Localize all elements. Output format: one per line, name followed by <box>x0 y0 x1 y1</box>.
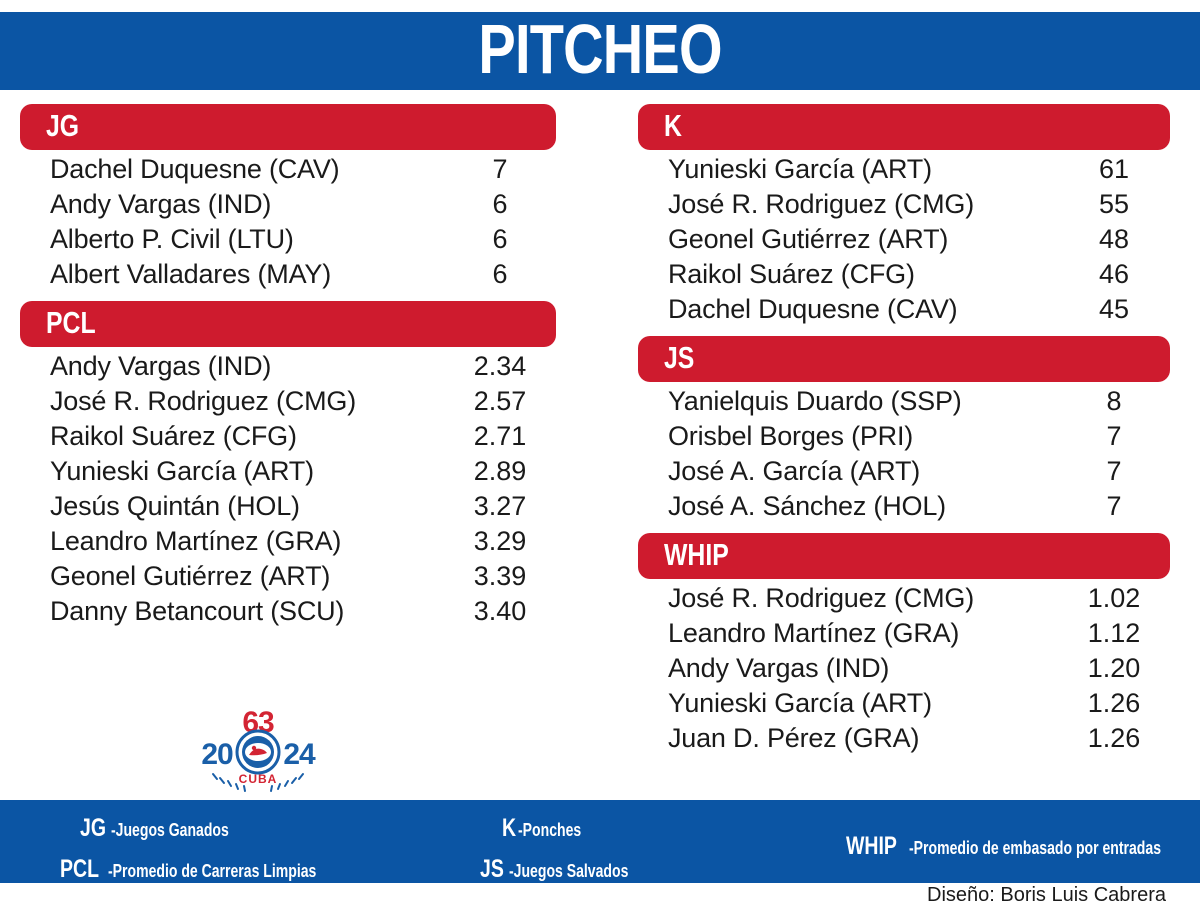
table-row: Dachel Duquesne (CAV) 7 <box>20 154 556 189</box>
player-name: José A. García (ART) <box>668 456 1058 487</box>
player-name: Geonel Gutiérrez (ART) <box>50 561 444 592</box>
stat-value: 45 <box>1058 294 1170 325</box>
stat-value: 7 <box>1058 421 1170 452</box>
table-row: Geonel Gutiérrez (ART) 48 <box>638 224 1170 259</box>
table-row: Yanielquis Duardo (SSP) 8 <box>638 386 1170 421</box>
stat-list-whip: José R. Rodriguez (CMG) 1.02 Leandro Mar… <box>638 583 1170 758</box>
legend-desc: -Ponches <box>518 820 581 841</box>
infographic-page: PITCHEO JG Dachel Duquesne (CAV) 7 Andy … <box>0 0 1200 908</box>
player-name: José A. Sánchez (HOL) <box>668 491 1058 522</box>
table-row: Andy Vargas (IND) 6 <box>20 189 556 224</box>
stat-value: 1.26 <box>1058 723 1170 754</box>
design-credit: Diseño: Boris Luis Cabrera <box>927 884 1166 907</box>
spacer <box>638 329 1170 336</box>
table-row: José R. Rodriguez (CMG) 2.57 <box>20 386 556 421</box>
stat-value: 8 <box>1058 386 1170 417</box>
stat-value: 7 <box>1058 456 1170 487</box>
stat-value: 3.39 <box>444 561 556 592</box>
stat-value: 1.20 <box>1058 653 1170 684</box>
section-pcl: PCL Andy Vargas (IND) 2.34 José R. Rodri… <box>20 301 556 631</box>
player-name: Jesús Quintán (HOL) <box>50 491 444 522</box>
stat-value: 6 <box>444 259 556 290</box>
serie-nacional-logo: 63 20 24 CUBA <box>193 702 323 794</box>
player-name: Danny Betancourt (SCU) <box>50 596 444 627</box>
table-row: Juan D. Pérez (GRA) 1.26 <box>638 723 1170 758</box>
legend-item-js: JS -Juegos Salvados <box>480 855 662 884</box>
legend-item-k: K -Ponches <box>480 814 662 843</box>
section-title-pcl: PCL <box>46 307 96 341</box>
stat-value: 3.29 <box>444 526 556 557</box>
table-row: José R. Rodriguez (CMG) 1.02 <box>638 583 1170 618</box>
table-row: Albert Valladares (MAY) 6 <box>20 259 556 294</box>
legend-abbr: WHIP <box>846 832 897 861</box>
player-name: Orisbel Borges (PRI) <box>668 421 1058 452</box>
player-name: Dachel Duquesne (CAV) <box>668 294 1058 325</box>
player-name: Yunieski García (ART) <box>668 154 1058 185</box>
stat-value: 1.12 <box>1058 618 1170 649</box>
player-name: Dachel Duquesne (CAV) <box>50 154 444 185</box>
section-title-js: JS <box>664 342 694 376</box>
section-title-k: K <box>664 110 682 144</box>
table-row: Danny Betancourt (SCU) 3.40 <box>20 596 556 631</box>
table-row: Leandro Martínez (GRA) 1.12 <box>638 618 1170 653</box>
legend-desc: -Juegos Salvados <box>509 861 628 882</box>
table-row: Jesús Quintán (HOL) 3.27 <box>20 491 556 526</box>
legend-group-left: JG -Juegos Ganados PCL -Promedio de Carr… <box>60 814 375 896</box>
section-jg: JG Dachel Duquesne (CAV) 7 Andy Vargas (… <box>20 104 556 294</box>
section-header-k: K <box>638 104 1170 150</box>
player-name: Raikol Suárez (CFG) <box>50 421 444 452</box>
stat-value: 1.26 <box>1058 688 1170 719</box>
stat-list-js: Yanielquis Duardo (SSP) 8 Orisbel Borges… <box>638 386 1170 526</box>
stat-list-k: Yunieski García (ART) 61 José R. Rodrigu… <box>638 154 1170 329</box>
stat-value: 3.40 <box>444 596 556 627</box>
player-name: Raikol Suárez (CFG) <box>668 259 1058 290</box>
table-row: Raikol Suárez (CFG) 2.71 <box>20 421 556 456</box>
legend-abbr: PCL <box>60 855 99 884</box>
table-row: Dachel Duquesne (CAV) 45 <box>638 294 1170 329</box>
stat-list-jg: Dachel Duquesne (CAV) 7 Andy Vargas (IND… <box>20 154 556 294</box>
player-name: Leandro Martínez (GRA) <box>668 618 1058 649</box>
stat-value: 48 <box>1058 224 1170 255</box>
table-row: José R. Rodriguez (CMG) 55 <box>638 189 1170 224</box>
footer-banner: JG -Juegos Ganados PCL -Promedio de Carr… <box>0 800 1200 883</box>
legend-abbr: JG <box>80 814 106 843</box>
player-name: Leandro Martínez (GRA) <box>50 526 444 557</box>
table-row: Yunieski García (ART) 2.89 <box>20 456 556 491</box>
table-row: Yunieski García (ART) 61 <box>638 154 1170 189</box>
stat-value: 2.57 <box>444 386 556 417</box>
stat-value: 6 <box>444 189 556 220</box>
svg-text:24: 24 <box>283 738 316 771</box>
header-banner: PITCHEO <box>0 12 1200 90</box>
right-column: K Yunieski García (ART) 61 José R. Rodri… <box>638 104 1170 758</box>
section-whip: WHIP José R. Rodriguez (CMG) 1.02 Leandr… <box>638 533 1170 758</box>
table-row: Andy Vargas (IND) 1.20 <box>638 653 1170 688</box>
legend-desc: -Promedio de embasado por entradas <box>909 838 1161 859</box>
legend-item-pcl: PCL -Promedio de Carreras Limpias <box>60 855 375 884</box>
section-title-whip: WHIP <box>664 539 729 573</box>
player-name: José R. Rodriguez (CMG) <box>668 583 1058 614</box>
section-k: K Yunieski García (ART) 61 José R. Rodri… <box>638 104 1170 329</box>
legend-desc: -Juegos Ganados <box>111 820 229 841</box>
section-header-jg: JG <box>20 104 556 150</box>
section-title-jg: JG <box>46 110 79 144</box>
table-row: Geonel Gutiérrez (ART) 3.39 <box>20 561 556 596</box>
legend-item-jg: JG -Juegos Ganados <box>60 814 375 843</box>
page-title: PITCHEO <box>478 14 721 88</box>
player-name: José R. Rodriguez (CMG) <box>50 386 444 417</box>
player-name: Andy Vargas (IND) <box>50 189 444 220</box>
stat-value: 7 <box>1058 491 1170 522</box>
player-name: Alberto P. Civil (LTU) <box>50 224 444 255</box>
table-row: José A. García (ART) 7 <box>638 456 1170 491</box>
spacer <box>638 526 1170 533</box>
legend-group-center: K -Ponches JS -Juegos Salvados <box>480 814 662 896</box>
stat-value: 2.89 <box>444 456 556 487</box>
player-name: Albert Valladares (MAY) <box>50 259 444 290</box>
table-row: Orisbel Borges (PRI) 7 <box>638 421 1170 456</box>
table-row: Yunieski García (ART) 1.26 <box>638 688 1170 723</box>
section-header-js: JS <box>638 336 1170 382</box>
player-name: Andy Vargas (IND) <box>668 653 1058 684</box>
stat-value: 1.02 <box>1058 583 1170 614</box>
svg-text:20: 20 <box>201 738 233 771</box>
section-js: JS Yanielquis Duardo (SSP) 8 Orisbel Bor… <box>638 336 1170 526</box>
stat-value: 46 <box>1058 259 1170 290</box>
stat-value: 2.71 <box>444 421 556 452</box>
table-row: Andy Vargas (IND) 2.34 <box>20 351 556 386</box>
player-name: Andy Vargas (IND) <box>50 351 444 382</box>
player-name: Yunieski García (ART) <box>668 688 1058 719</box>
legend-abbr: JS <box>480 855 504 884</box>
legend-group-right: WHIP -Promedio de embasado por entradas <box>846 832 1200 873</box>
player-name: José R. Rodriguez (CMG) <box>668 189 1058 220</box>
stat-value: 55 <box>1058 189 1170 220</box>
stat-value: 61 <box>1058 154 1170 185</box>
svg-text:CUBA: CUBA <box>239 772 278 786</box>
section-header-whip: WHIP <box>638 533 1170 579</box>
player-name: Juan D. Pérez (GRA) <box>668 723 1058 754</box>
stat-value: 2.34 <box>444 351 556 382</box>
left-column: JG Dachel Duquesne (CAV) 7 Andy Vargas (… <box>20 104 556 631</box>
logo-icon: 63 20 24 CUBA <box>193 702 323 794</box>
table-row: Alberto P. Civil (LTU) 6 <box>20 224 556 259</box>
legend-item-whip: WHIP -Promedio de embasado por entradas <box>846 832 1200 861</box>
player-name: Geonel Gutiérrez (ART) <box>668 224 1058 255</box>
legend-abbr: K <box>502 814 516 843</box>
table-row: Raikol Suárez (CFG) 46 <box>638 259 1170 294</box>
stat-value: 7 <box>444 154 556 185</box>
legend-desc: -Promedio de Carreras Limpias <box>108 861 316 882</box>
section-header-pcl: PCL <box>20 301 556 347</box>
spacer <box>20 294 556 301</box>
stat-value: 3.27 <box>444 491 556 522</box>
stat-list-pcl: Andy Vargas (IND) 2.34 José R. Rodriguez… <box>20 351 556 631</box>
table-row: José A. Sánchez (HOL) 7 <box>638 491 1170 526</box>
player-name: Yunieski García (ART) <box>50 456 444 487</box>
stat-value: 6 <box>444 224 556 255</box>
player-name: Yanielquis Duardo (SSP) <box>668 386 1058 417</box>
table-row: Leandro Martínez (GRA) 3.29 <box>20 526 556 561</box>
